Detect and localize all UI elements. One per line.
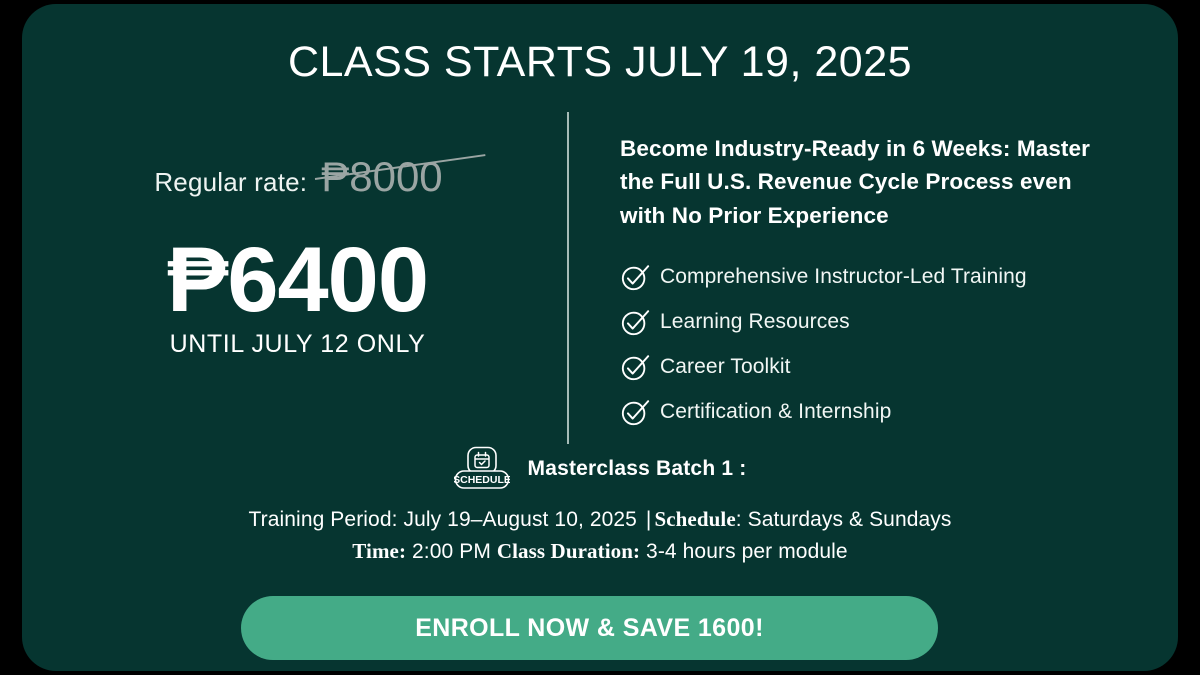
benefit-label: Career Toolkit bbox=[660, 355, 791, 379]
time-value: 2:00 PM bbox=[406, 540, 497, 563]
schedule-badge-caption: SCHEDULE bbox=[454, 474, 510, 486]
schedule-key: Schedule bbox=[654, 507, 735, 531]
time-key: Time: bbox=[352, 539, 406, 563]
screenshot-stage: CLASS STARTS JULY 19, 2025 Regular rate:… bbox=[0, 0, 1200, 675]
schedule-details: Training Period: July 19–August 10, 2025… bbox=[22, 504, 1178, 568]
enroll-now-button[interactable]: ENROLL NOW & SAVE 1600! bbox=[241, 596, 938, 660]
detail-separator: | bbox=[643, 508, 655, 531]
class-duration-value: 3-4 hours per module bbox=[640, 540, 848, 563]
benefit-label: Comprehensive Instructor-Led Training bbox=[660, 265, 1027, 289]
benefit-label: Certification & Internship bbox=[660, 400, 891, 424]
list-item: Certification & Internship bbox=[620, 397, 1120, 427]
offer-section: Become Industry-Ready in 6 Weeks: Master… bbox=[620, 132, 1120, 442]
batch-row: SCHEDULE Masterclass Batch 1 : bbox=[22, 446, 1178, 492]
training-period-key: Training Period: bbox=[248, 508, 397, 531]
circle-check-icon bbox=[620, 262, 650, 292]
batch-label: Masterclass Batch 1 : bbox=[528, 457, 747, 481]
benefit-label: Learning Resources bbox=[660, 310, 850, 334]
list-item: Comprehensive Instructor-Led Training bbox=[620, 262, 1120, 292]
schedule-calendar-icon: SCHEDULE bbox=[454, 446, 510, 492]
list-item: Learning Resources bbox=[620, 307, 1120, 337]
list-item: Career Toolkit bbox=[620, 352, 1120, 382]
old-price-wrapper: ₱8000 bbox=[321, 156, 442, 198]
page-title: CLASS STARTS JULY 19, 2025 bbox=[22, 38, 1178, 87]
detail-line-2: Time: 2:00 PM Class Duration: 3-4 hours … bbox=[22, 536, 1178, 568]
training-period-value: July 19–August 10, 2025 bbox=[398, 508, 643, 531]
offer-deadline-text: UNTIL JULY 12 ONLY bbox=[22, 330, 567, 359]
detail-line-1: Training Period: July 19–August 10, 2025… bbox=[22, 504, 1178, 536]
circle-check-icon bbox=[620, 397, 650, 427]
circle-check-icon bbox=[620, 307, 650, 337]
regular-rate-row: Regular rate: ₱8000 bbox=[22, 156, 567, 198]
regular-rate-label: Regular rate: bbox=[154, 167, 307, 198]
offer-sub-headline: Become Industry-Ready in 6 Weeks: Master… bbox=[620, 132, 1120, 232]
benefits-list: Comprehensive Instructor-Led Training Le… bbox=[620, 262, 1120, 427]
sale-price-value: ₱6400 bbox=[22, 234, 567, 328]
circle-check-icon bbox=[620, 352, 650, 382]
schedule-value: : Saturdays & Sundays bbox=[736, 508, 952, 531]
column-divider bbox=[567, 112, 569, 444]
pricing-section: Regular rate: ₱8000 ₱6400 UNTIL JULY 12 … bbox=[22, 156, 567, 359]
promo-card: CLASS STARTS JULY 19, 2025 Regular rate:… bbox=[22, 4, 1178, 671]
class-duration-key: Class Duration: bbox=[497, 539, 640, 563]
